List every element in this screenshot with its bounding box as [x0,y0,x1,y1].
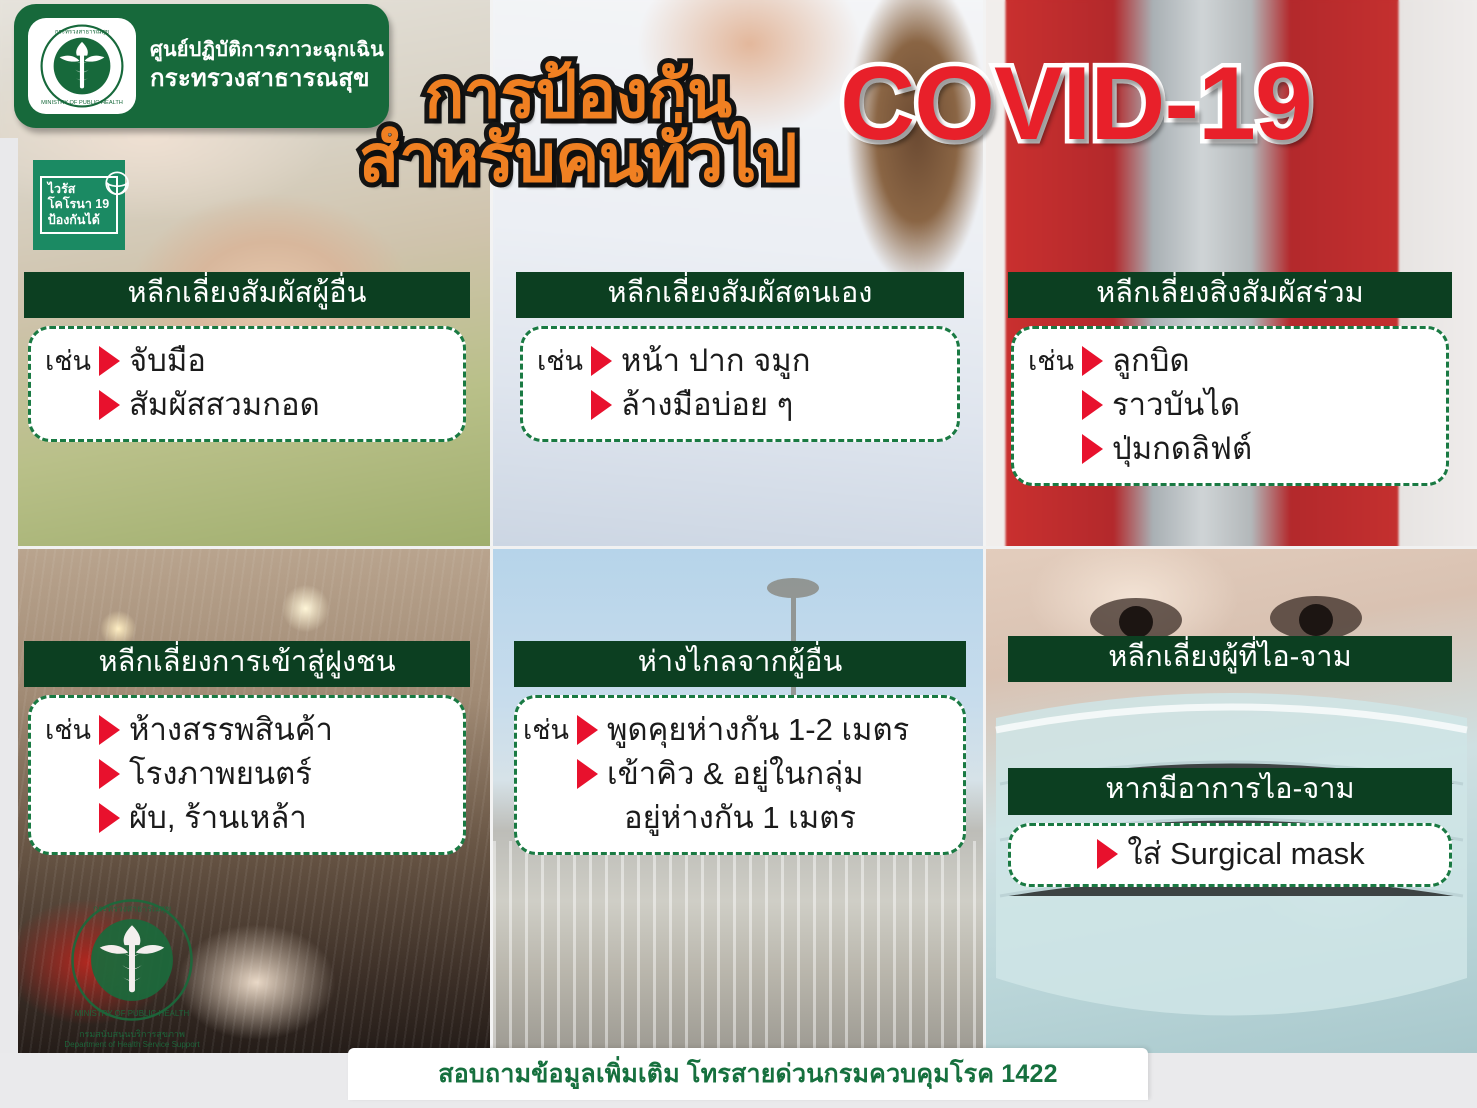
svg-text:MINISTRY OF PUBLIC HEALTH: MINISTRY OF PUBLIC HEALTH [41,100,123,106]
panel-header: หลีกเลี่ยงผู้ที่ไอ-จาม [1008,636,1452,682]
eg-label: เช่น [523,711,569,749]
list-item: เช่น ล้างมือบ่อย ๆ [537,383,943,427]
eg-label: เช่น [45,711,91,749]
bullet-arrow-icon [1097,839,1118,869]
panel-header: หลีกเลี่ยงสิ่งสัมผัสร่วม [1008,272,1452,318]
list-item: เช่น ห้างสรรพสินค้า [45,708,449,752]
list-item-label: จับมือ [129,339,206,383]
list-item-label: พูดคุยห่างกัน 1-2 เมตร [607,708,909,752]
svg-text:กระทรวงสาธารณสุข: กระทรวงสาธารณสุข [93,903,171,914]
list-item-label: ใส่ Surgical mask [1127,832,1364,876]
page-title-thai-line2: สำหรับคนทั่วไป [268,126,888,190]
list-item: เช่น ผับ, ร้านเหล้า [45,796,449,840]
footer-hotline-bar: สอบถามข้อมูลเพิ่มเติม โทรสายด่วนกรมควบคุ… [348,1048,1148,1100]
panel-avoid-touching-self: หลีกเลี่ยงสัมผัสตนเอง เช่น หน้า ปาก จมูก… [516,272,964,442]
bullet-arrow-icon [577,759,598,789]
bullet-arrow-icon [1082,434,1103,464]
virus-badge-line3: ป้องกันได้ [48,213,109,228]
panel-card: เช่น หน้า ปาก จมูก เช่น ล้างมือบ่อย ๆ [520,326,960,442]
list-item: เช่น ปุ่มกดลิฟต์ [1028,427,1432,471]
panel-keep-distance: ห่างไกลจากผู้อื่น เช่น พูดคุยห่างกัน 1-2… [514,641,966,855]
panel-header: หลีกเลี่ยงสัมผัสผู้อื่น [24,272,470,318]
list-item-label: โรงภาพยนตร์ [129,752,312,796]
list-item-label: สัมผัสสวมกอด [129,383,320,427]
bullet-arrow-icon [99,346,120,376]
list-item-label: เข้าคิว & อยู่ในกลุ่ม [607,752,864,796]
bullet-arrow-icon [1082,346,1103,376]
list-item: เช่น ราวบันได [1028,383,1432,427]
eg-label: เช่น [1028,342,1074,380]
list-item: เช่น ลูกบิด [1028,339,1432,383]
bottom-logo-caption-th: กรมสนับสนุนบริการสุขภาพ [42,1029,222,1040]
bottom-logo: กระทรวงสาธารณสุข MINISTRY OF PUBLIC HEAL… [42,898,222,1050]
list-item: เช่น สัมผัสสวมกอด [45,383,449,427]
panel-avoid-shared-surfaces: หลีกเลี่ยงสิ่งสัมผัสร่วม เช่น ลูกบิด เช่… [1008,272,1452,486]
list-item: ใส่ Surgical mask [1021,832,1439,876]
ministry-of-public-health-seal-icon: กระทรวงสาธารณสุข MINISTRY OF PUBLIC HEAL… [28,18,136,114]
panel-header: หลีกเลี่ยงการเข้าสู่ฝูงชน [24,641,470,687]
eg-label: เช่น [537,342,583,380]
bullet-arrow-icon [99,803,120,833]
panel-card: ใส่ Surgical mask [1008,823,1452,887]
masked-face-icon [101,169,135,201]
bottom-logo-caption-en: Department of Health Service Support [42,1040,222,1050]
footer-hotline-text: สอบถามข้อมูลเพิ่มเติม โทรสายด่วนกรมควบคุ… [438,1054,1057,1094]
list-item: เช่น จับมือ [45,339,449,383]
list-item: เช่น หน้า ปาก จมูก [537,339,943,383]
virus-badge-line1: ไวรัส [48,182,109,197]
svg-text:MINISTRY OF PUBLIC HEALTH: MINISTRY OF PUBLIC HEALTH [75,1009,190,1018]
list-item-label: หน้า ปาก จมูก [621,339,810,383]
bullet-arrow-icon [577,715,598,745]
virus-badge: ไวรัส โคโรนา 19 ป้องกันได้ [33,160,125,250]
panel-header: ห่างไกลจากผู้อื่น [514,641,966,687]
page-title-thai: การป้องกัน สำหรับคนทั่วไป [268,62,888,190]
bullet-arrow-icon [591,346,612,376]
list-item: เช่น โรงภาพยนตร์ [45,752,449,796]
list-item-label: ผับ, ร้านเหล้า [129,796,307,840]
bullet-arrow-icon [99,715,120,745]
panel-avoid-contact-others: หลีกเลี่ยงสัมผัสผู้อื่น เช่น จับมือ เช่น… [24,272,470,442]
panel-card: เช่น พูดคุยห่างกัน 1-2 เมตร เช่น เข้าคิว… [514,695,966,855]
panel-header: หลีกเลี่ยงสัมผัสตนเอง [516,272,964,318]
panel-card: เช่น จับมือ เช่น สัมผัสสวมกอด [28,326,466,442]
list-item-label: ปุ่มกดลิฟต์ [1112,427,1252,471]
list-item-label: ลูกบิด [1112,339,1190,383]
svg-text:กระทรวงสาธารณสุข: กระทรวงสาธารณสุข [55,28,109,35]
bullet-arrow-icon [99,759,120,789]
list-item-label: ห้างสรรพสินค้า [129,708,333,752]
list-item-label: ราวบันได [1112,383,1240,427]
org-header-line1: ศูนย์ปฏิบัติการภาวะฉุกเฉิน [150,37,384,63]
panel-avoid-coughing-people: หลีกเลี่ยงผู้ที่ไอ-จาม หากมีอาการไอ-จาม … [1008,636,1452,887]
ministry-of-public-health-seal-icon: กระทรวงสาธารณสุข MINISTRY OF PUBLIC HEAL… [70,898,194,1022]
page-title-thai-line1: การป้องกัน [268,62,888,126]
panel-header-secondary: หากมีอาการไอ-จาม [1008,768,1452,814]
panel-avoid-crowds: หลีกเลี่ยงการเข้าสู่ฝูงชน เช่น ห้างสรรพส… [24,641,470,855]
panel-card: เช่น ลูกบิด เช่น ราวบันได เช่น ปุ่มกดลิฟ… [1011,326,1449,486]
bullet-arrow-icon [1082,390,1103,420]
list-item: เช่น เข้าคิว & อยู่ในกลุ่ม [523,752,957,796]
virus-badge-line2: โคโรนา 19 [48,197,109,212]
list-item: เช่น พูดคุยห่างกัน 1-2 เมตร [523,708,957,752]
covid-prevention-poster: กระทรวงสาธารณสุข MINISTRY OF PUBLIC HEAL… [0,0,1477,1108]
bullet-arrow-icon [591,390,612,420]
bullet-arrow-icon [99,390,120,420]
panel-card: เช่น ห้างสรรพสินค้า เช่น โรงภาพยนตร์ เช่… [28,695,466,855]
eg-label: เช่น [45,342,91,380]
page-title-covid: COVID-19 [840,52,1312,156]
list-item-label: ล้างมือบ่อย ๆ [621,383,793,427]
list-item-note: อยู่ห่างกัน 1 เมตร [523,796,957,840]
